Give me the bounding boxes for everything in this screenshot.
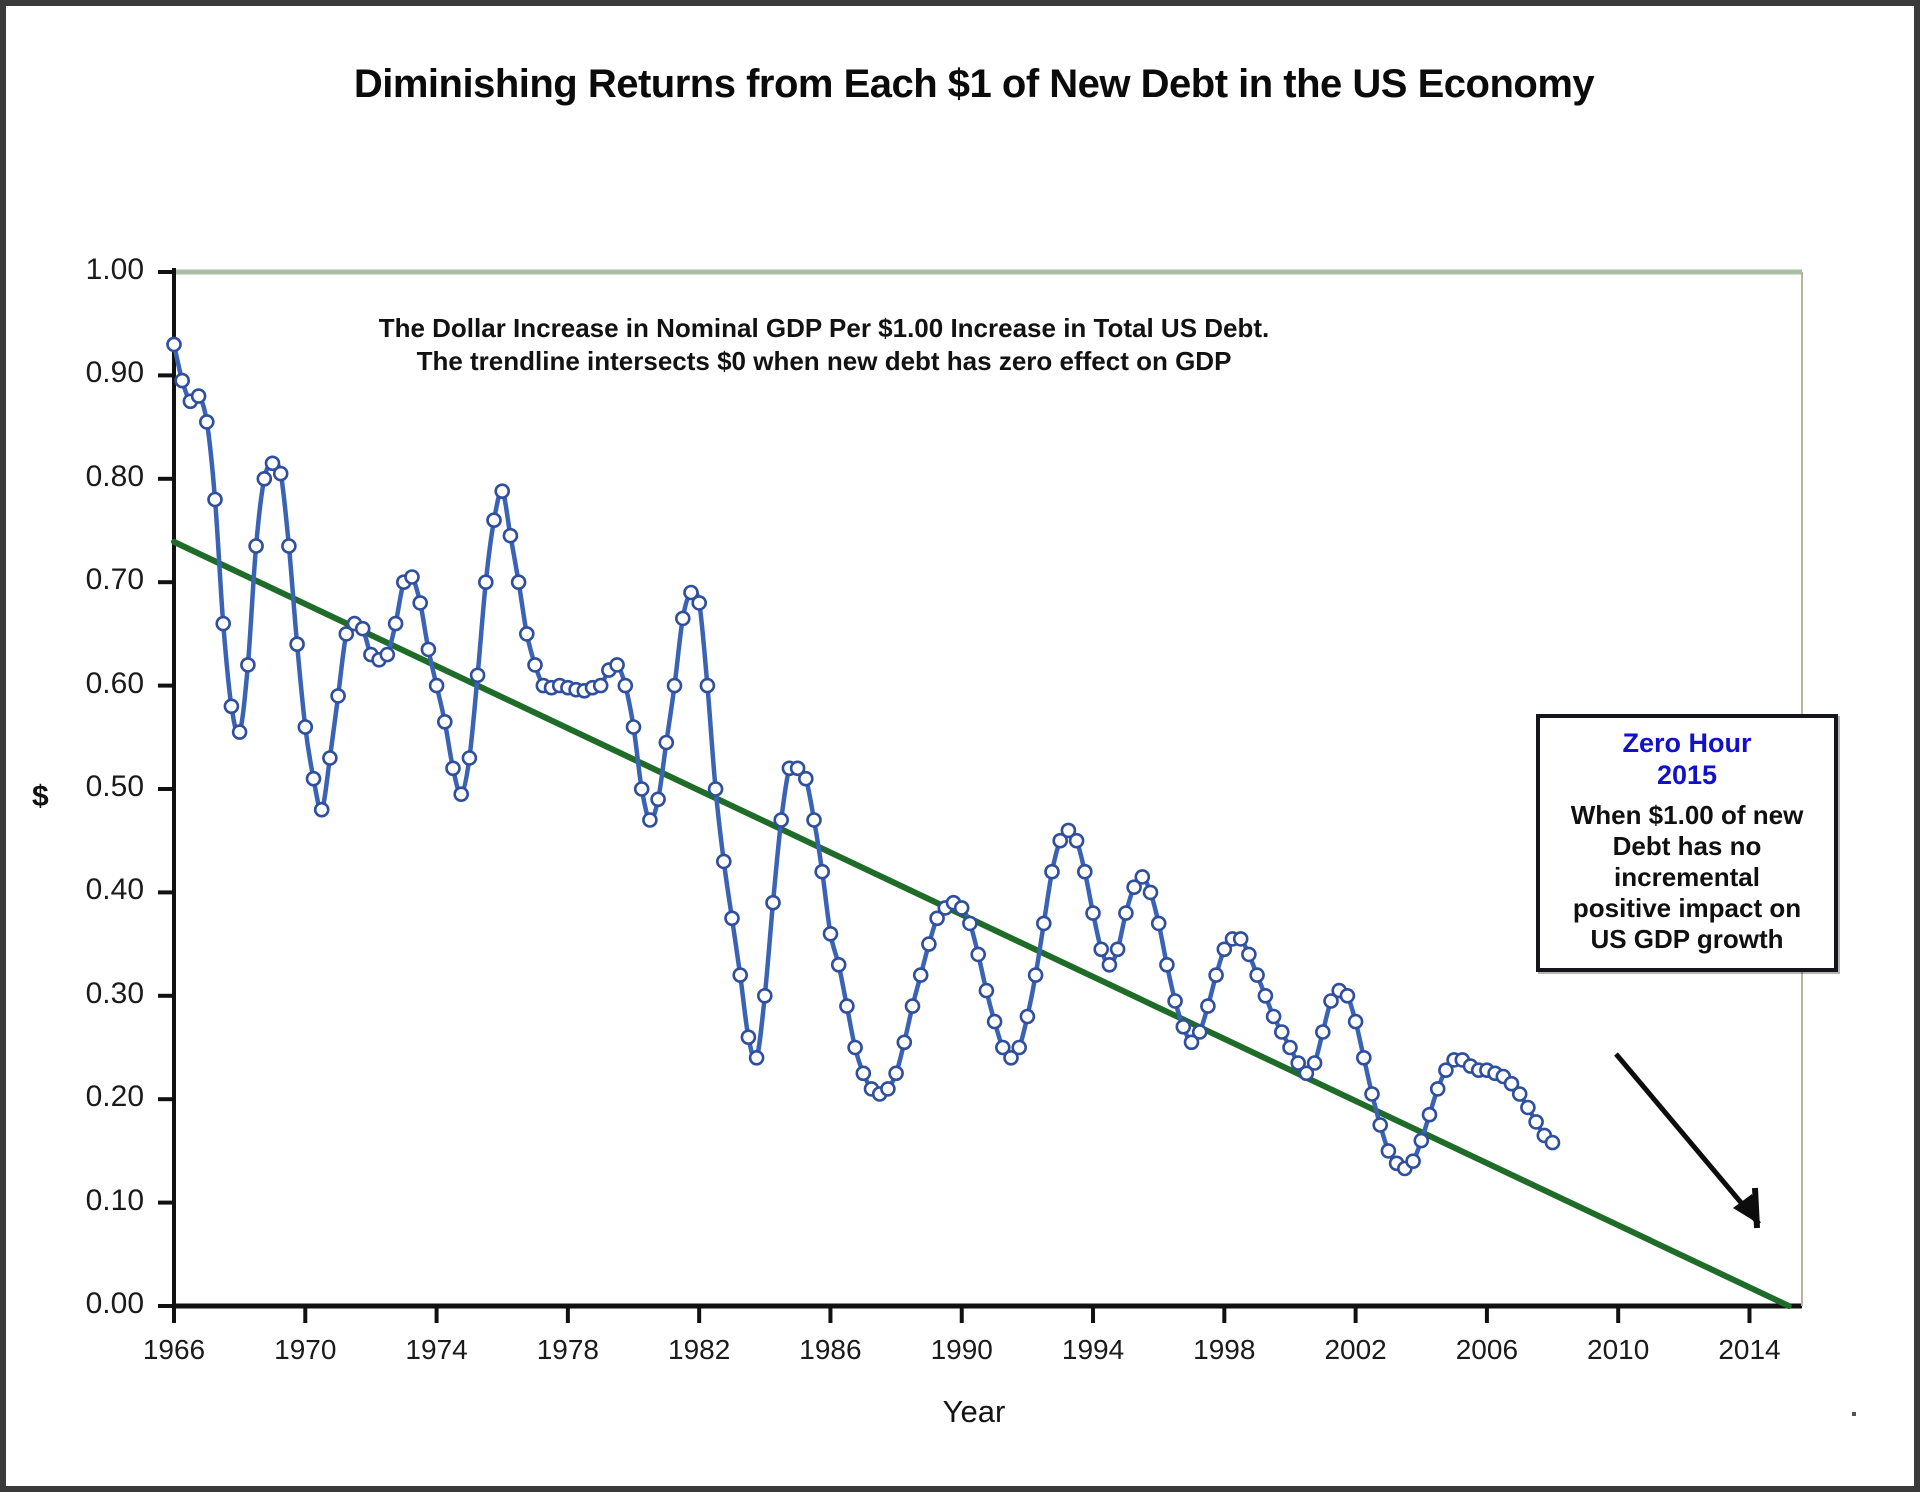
x-tick-label: 2006 [1427,1334,1547,1366]
annotation-body: When $1.00 of new Debt has no incrementa… [1546,800,1828,956]
y-tick-label: 0.20 [24,1080,144,1114]
annotation-body-line-1: When $1.00 of new [1546,800,1828,831]
annotation-body-line-5: US GDP growth [1546,924,1828,955]
y-tick-label: 0.10 [24,1184,144,1218]
stray-corner-dot [1852,1412,1856,1416]
y-tick-label: 0.80 [24,460,144,494]
x-tick-label: 1978 [508,1334,628,1366]
x-tick-label: 1990 [902,1334,1022,1366]
data-line-series [174,344,1553,1168]
x-tick-label: 2010 [1558,1334,1678,1366]
y-tick-label: 0.70 [24,563,144,597]
y-tick-label: 0.60 [24,667,144,701]
x-tick-label: 2014 [1689,1334,1809,1366]
x-tick-label: 1974 [377,1334,497,1366]
annotation-arrow [1616,1054,1759,1228]
axis-tick-marks [158,272,1749,1323]
y-tick-label: 0.00 [24,1287,144,1321]
x-tick-label: 1966 [114,1334,234,1366]
x-axis-title: Year [14,1394,1920,1430]
annotation-heading-line-1: Zero Hour [1546,728,1828,760]
annotation-body-line-4: positive impact on [1546,893,1828,924]
x-tick-label: 1982 [639,1334,759,1366]
y-tick-label: 0.90 [24,356,144,390]
annotation-callout-box: Zero Hour 2015 When $1.00 of new Debt ha… [1536,714,1838,972]
y-axis-title: $ [32,780,49,814]
y-tick-label: 0.30 [24,977,144,1011]
chart-canvas: Diminishing Returns from Each $1 of New … [14,14,1906,1478]
data-point-markers [168,338,1560,1175]
annotation-body-line-2: Debt has no [1546,831,1828,862]
x-tick-label: 1970 [245,1334,365,1366]
x-tick-label: 2002 [1296,1334,1416,1366]
x-tick-label: 1998 [1164,1334,1284,1366]
x-tick-label: 1994 [1033,1334,1153,1366]
y-tick-label: 1.00 [24,253,144,287]
x-tick-label: 1986 [770,1334,890,1366]
y-tick-label: 0.40 [24,873,144,907]
annotation-heading-line-2: 2015 [1546,760,1828,792]
chart-frame: Diminishing Returns from Each $1 of New … [0,0,1920,1492]
annotation-body-line-3: incremental [1546,862,1828,893]
